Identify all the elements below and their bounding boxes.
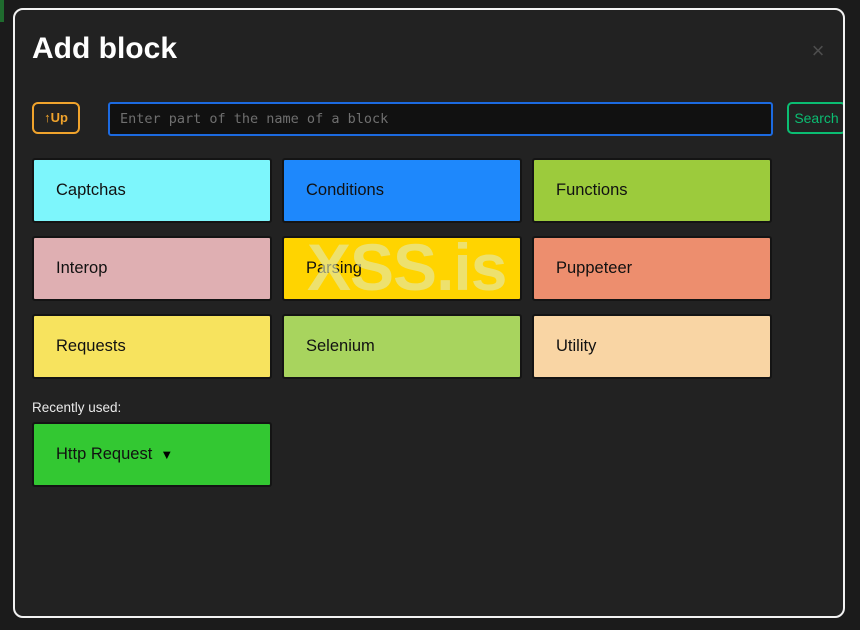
block-tile-label: Utility (556, 337, 596, 356)
block-tile[interactable]: Conditions (282, 158, 522, 223)
recent-block-tile-label: Http Request (56, 445, 152, 464)
block-tile[interactable]: Functions (532, 158, 772, 223)
page-title: Add block (32, 32, 177, 66)
block-tile[interactable]: Requests (32, 314, 272, 379)
block-tile-label: Interop (56, 259, 107, 278)
recent-block-tile[interactable]: Http Request ▼ (32, 422, 272, 487)
block-tile-label: Selenium (306, 337, 375, 356)
block-tile-label: Conditions (306, 181, 384, 200)
block-tile[interactable]: Parsing (282, 236, 522, 301)
block-category-grid: Captchas Conditions Functions Interop Pa… (32, 158, 832, 379)
search-input[interactable] (108, 102, 773, 136)
block-tile-label: Captchas (56, 181, 126, 200)
add-block-dialog: Add block × ↑Up Search Captchas Conditio… (13, 8, 845, 618)
search-toolbar: ↑Up Search (32, 102, 832, 138)
page-edge-accent (0, 0, 4, 22)
block-tile[interactable]: Puppeteer (532, 236, 772, 301)
recently-used-grid: Http Request ▼ (32, 422, 832, 487)
up-button[interactable]: ↑Up (32, 102, 80, 134)
block-tile-label: Puppeteer (556, 259, 632, 278)
block-tile-label: Parsing (306, 259, 362, 278)
block-tile[interactable]: Captchas (32, 158, 272, 223)
block-tile-label: Functions (556, 181, 628, 200)
block-tile-label: Requests (56, 337, 126, 356)
recently-used-heading: Recently used: (32, 400, 121, 415)
block-tile[interactable]: Interop (32, 236, 272, 301)
block-tile[interactable]: Selenium (282, 314, 522, 379)
up-button-label: Up (51, 110, 68, 125)
search-button[interactable]: Search (787, 102, 845, 134)
block-tile[interactable]: Utility (532, 314, 772, 379)
close-icon[interactable]: × (805, 38, 831, 64)
chevron-down-icon: ▼ (160, 448, 173, 461)
